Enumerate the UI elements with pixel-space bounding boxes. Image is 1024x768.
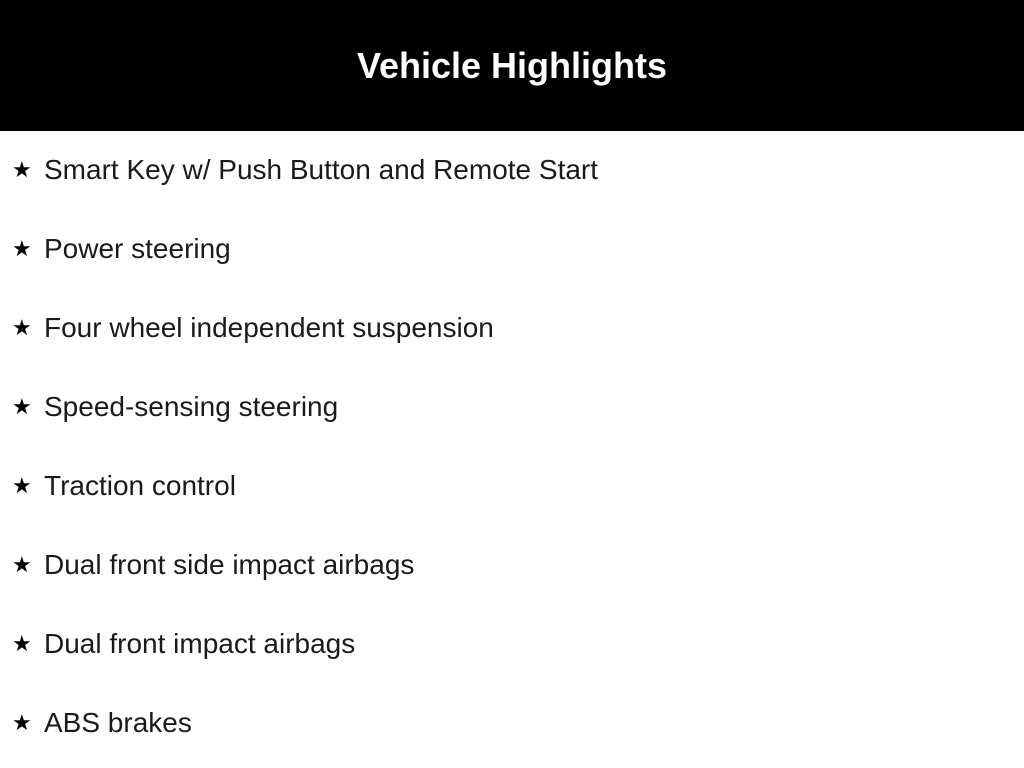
list-item-label: Traction control — [44, 471, 236, 502]
list-item-label: Dual front impact airbags — [44, 629, 355, 660]
list-item-label: Four wheel independent suspension — [44, 313, 494, 344]
list-item: ★ Dual front side impact airbags — [0, 526, 1024, 605]
star-bullet-icon: ★ — [12, 160, 44, 182]
list-item: ★ Smart Key w/ Push Button and Remote St… — [0, 131, 1024, 210]
vehicle-highlights-list: ★ Smart Key w/ Push Button and Remote St… — [0, 131, 1024, 763]
star-bullet-icon: ★ — [12, 634, 44, 656]
list-item: ★ Dual front impact airbags — [0, 605, 1024, 684]
list-item: ★ Four wheel independent suspension — [0, 289, 1024, 368]
list-item: ★ Traction control — [0, 447, 1024, 526]
star-bullet-icon: ★ — [12, 397, 44, 419]
list-item: ★ Power steering — [0, 210, 1024, 289]
list-item: ★ Speed-sensing steering — [0, 368, 1024, 447]
star-bullet-icon: ★ — [12, 713, 44, 735]
list-item-label: Dual front side impact airbags — [44, 550, 414, 581]
star-bullet-icon: ★ — [12, 476, 44, 498]
vehicle-highlights-page: Vehicle Highlights ★ Smart Key w/ Push B… — [0, 0, 1024, 768]
page-header: Vehicle Highlights — [0, 0, 1024, 131]
list-item-label: Smart Key w/ Push Button and Remote Star… — [44, 155, 598, 186]
list-item: ★ ABS brakes — [0, 684, 1024, 763]
page-title: Vehicle Highlights — [357, 48, 667, 84]
list-item-label: Power steering — [44, 234, 231, 265]
list-item-label: ABS brakes — [44, 708, 192, 739]
list-item-label: Speed-sensing steering — [44, 392, 338, 423]
star-bullet-icon: ★ — [12, 239, 44, 261]
star-bullet-icon: ★ — [12, 555, 44, 577]
star-bullet-icon: ★ — [12, 318, 44, 340]
